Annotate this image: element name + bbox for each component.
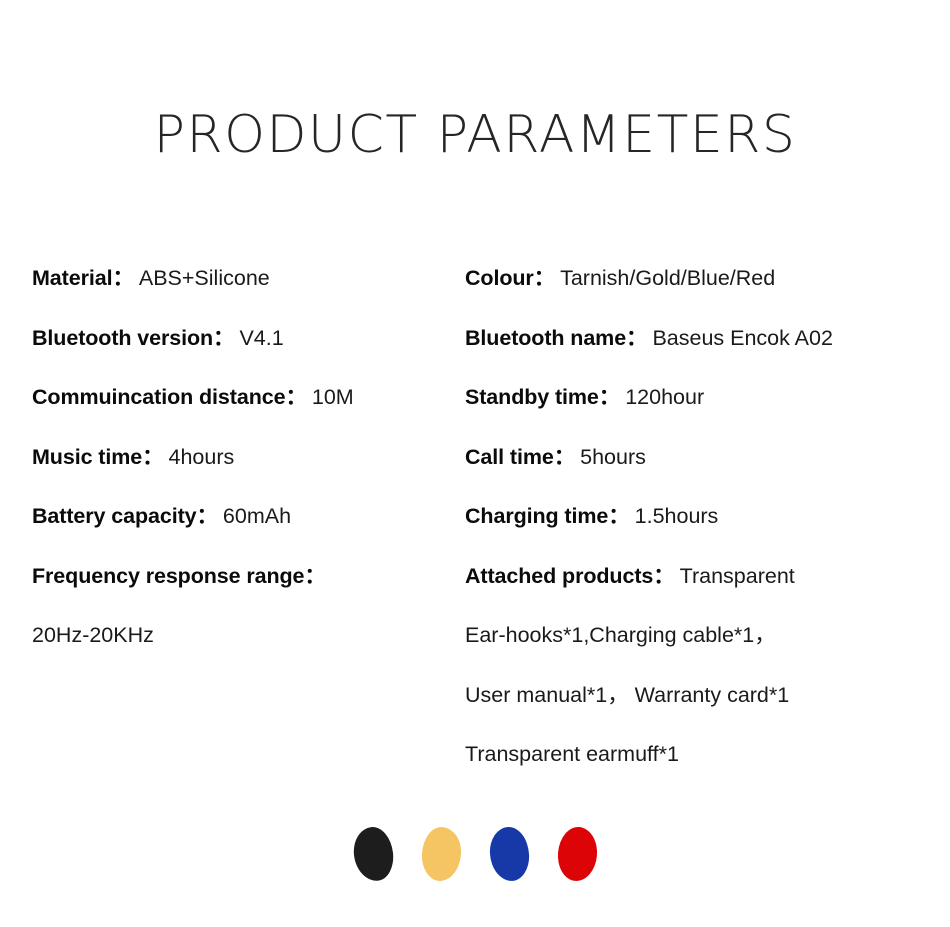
spec-table: Material：ABS+Silicone Bluetooth version：… — [0, 268, 950, 808]
spec-value: Transparent earmuff*1 — [465, 742, 679, 766]
spec-value: 60mAh — [223, 504, 291, 528]
product-parameters-page: PRODUCT PARAMETERS Material：ABS+Silicone… — [0, 0, 950, 927]
spec-value: Tarnish/Gold/Blue/Red — [560, 266, 775, 290]
spec-row: Bluetooth version：V4.1 — [32, 328, 452, 388]
spec-key: Battery capacity： — [32, 504, 218, 528]
spec-row-continuation: 20Hz-20KHz — [32, 625, 452, 685]
spec-row-continuation: Ear-hooks*1,Charging cable*1， — [465, 625, 935, 685]
spec-column-right: Colour：Tarnish/Gold/Blue/Red Bluetooth n… — [465, 268, 935, 804]
colour-swatch-tarnish[interactable] — [351, 825, 395, 883]
spec-key: Attached products： — [465, 564, 675, 588]
spec-value: 5hours — [580, 445, 646, 469]
spec-row: Charging time：1.5hours — [465, 506, 935, 566]
spec-row: Colour：Tarnish/Gold/Blue/Red — [465, 268, 935, 328]
spec-key: Bluetooth version： — [32, 326, 234, 350]
spec-value: User manual*1， Warranty card*1 — [465, 683, 789, 707]
spec-value: 1.5hours — [635, 504, 719, 528]
colour-swatch-row — [0, 824, 950, 884]
spec-row: Music time：4hours — [32, 447, 452, 507]
spec-row: Frequency response range： — [32, 566, 452, 626]
spec-key: Charging time： — [465, 504, 630, 528]
spec-value: 20Hz-20KHz — [32, 623, 154, 647]
spec-key: Call time： — [465, 445, 575, 469]
spec-key: Bluetooth name： — [465, 326, 647, 350]
spec-value: Ear-hooks*1,Charging cable*1， — [465, 623, 776, 647]
spec-key: Material： — [32, 266, 134, 290]
spec-key: Music time： — [32, 445, 164, 469]
spec-value: V4.1 — [239, 326, 283, 350]
spec-value: 10M — [312, 385, 354, 409]
spec-row: Material：ABS+Silicone — [32, 268, 452, 328]
colour-swatch-gold[interactable] — [420, 826, 462, 882]
spec-row: Call time：5hours — [465, 447, 935, 507]
spec-row: Standby time：120hour — [465, 387, 935, 447]
spec-row: Commuincation distance：10M — [32, 387, 452, 447]
spec-key: Frequency response range： — [32, 564, 326, 588]
spec-row-continuation: Transparent earmuff*1 — [465, 744, 935, 804]
spec-value: 120hour — [625, 385, 704, 409]
spec-row: Attached products：Transparent — [465, 566, 935, 626]
spec-key: Standby time： — [465, 385, 620, 409]
spec-value: Baseus Encok A02 — [652, 326, 832, 350]
spec-row: Bluetooth name：Baseus Encok A02 — [465, 328, 935, 388]
spec-key: Commuincation distance： — [32, 385, 307, 409]
spec-column-left: Material：ABS+Silicone Bluetooth version：… — [32, 268, 452, 685]
page-title: PRODUCT PARAMETERS — [0, 108, 950, 163]
spec-value: 4hours — [169, 445, 235, 469]
colour-swatch-blue[interactable] — [488, 826, 530, 882]
colour-swatch-red[interactable] — [555, 825, 599, 882]
spec-value: Transparent — [680, 564, 795, 588]
spec-key: Colour： — [465, 266, 555, 290]
spec-value: ABS+Silicone — [139, 266, 270, 290]
spec-row-continuation: User manual*1， Warranty card*1 — [465, 685, 935, 745]
spec-row: Battery capacity：60mAh — [32, 506, 452, 566]
